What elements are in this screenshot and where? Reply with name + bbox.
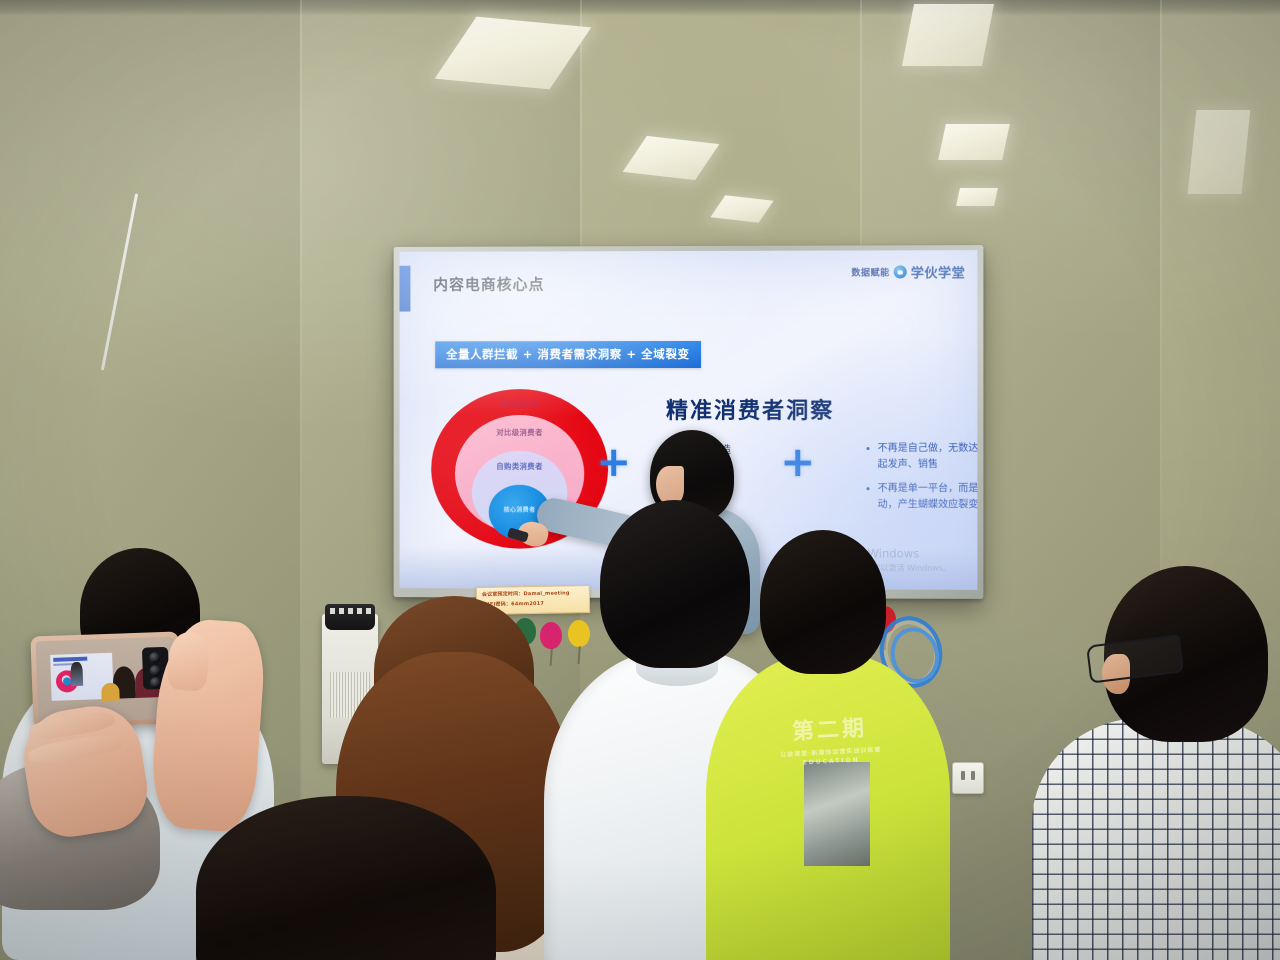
- camera-lens-1: [149, 652, 160, 663]
- audience-green-head: [760, 530, 886, 674]
- logo-text-left: 数据赋能: [851, 265, 889, 278]
- camera-lens-2: [150, 665, 161, 676]
- ceiling-light-reflection-5: [938, 124, 1010, 160]
- slide-headline: 精准消费者洞察: [666, 393, 834, 425]
- phone-preview-bar: [53, 657, 87, 662]
- slide-title-accent-bar: [400, 266, 411, 312]
- slide-title: 内容电商核心点: [433, 273, 544, 294]
- slide-blue-banner: 全量人群拦截 + 消费者需求洞察 + 全域裂变: [435, 341, 700, 368]
- photo-scene: 内容电商核心点 数据赋能 学伙学堂 全量人群拦截 + 消费者需求洞察 + 全域裂…: [0, 0, 1280, 960]
- slide-column-right: 不再是自己做，无数达人系人一起发声、销售 不再是单一平台，而是多平台联动，产生蝴…: [826, 441, 977, 522]
- logo-text-right: 学伙学堂: [911, 262, 965, 281]
- plus-sign-1: +: [596, 437, 631, 486]
- phone-recording-rig: [10, 612, 270, 842]
- bullet-right-1: 不再是自己做，无数达人系人一起发声、销售: [867, 441, 978, 472]
- ceiling-light-reflection-7: [1188, 110, 1251, 194]
- phone-preview-audience-3: [101, 683, 120, 702]
- slide-brand-logo: 数据赋能 学伙学堂: [851, 262, 965, 281]
- thumb: [166, 631, 210, 692]
- play-circle-icon: [894, 265, 907, 278]
- bullet-right-2: 不再是单一平台，而是多平台联动，产生蝴蝶效应裂变: [867, 481, 978, 512]
- wall-power-outlet[interactable]: [952, 762, 984, 794]
- audience-glasses-checked-shirt: [1044, 566, 1280, 960]
- tshirt-photo-print: [804, 762, 870, 866]
- ceiling-light-reflection-4: [902, 4, 994, 66]
- tshirt-print-text: 第二期 公益课堂·新媒体运营实战训练营 EDUCATION: [739, 707, 922, 769]
- audience-check-torso: [1032, 718, 1280, 960]
- ceiling-light-reflection-6: [956, 188, 998, 206]
- phone-preview-presenter: [70, 662, 83, 686]
- audience-yellow-green-tshirt: 第二期 公益课堂·新媒体运营实战训练营 EDUCATION: [712, 530, 942, 960]
